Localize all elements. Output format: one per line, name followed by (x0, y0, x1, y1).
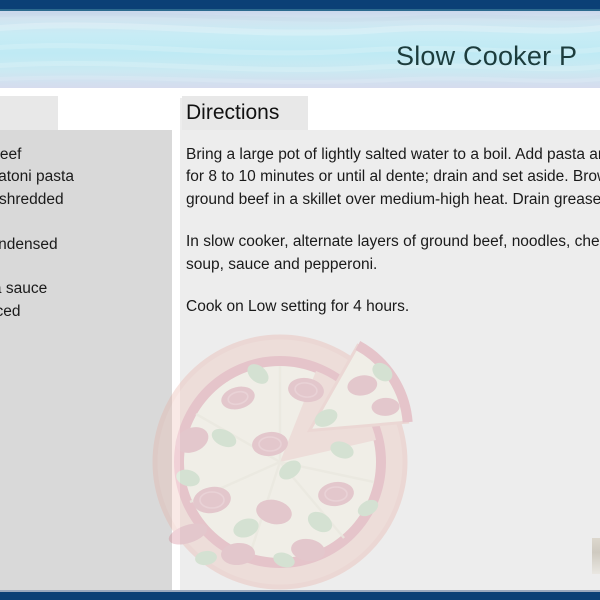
top-navy-bar (0, 0, 600, 9)
ingredients-list: ds ground beef package rigatoni pasta e)… (0, 144, 180, 346)
right-edge-artifact (592, 538, 600, 574)
ingredients-tab-backdrop (54, 96, 172, 130)
list-item: omato soup (0, 256, 180, 278)
list-item: cheese (0, 211, 180, 233)
directions-tab-backdrop (300, 96, 600, 130)
page-title: Slow Cooker P (396, 40, 577, 72)
list-item: package rigatoni pasta (0, 166, 180, 188)
directions-heading: Directions (182, 96, 308, 130)
directions-paragraph: In slow cooker, alternate layers of grou… (186, 231, 600, 276)
directions-paragraph: Cook on Low setting for 4 hours. (186, 296, 600, 318)
directions-body: Bring a large pot of lightly salted wate… (186, 144, 600, 318)
list-item: e) jars pizza sauce (0, 278, 180, 300)
ingredients-heading: ents (0, 96, 58, 130)
list-item: e) package shredded (0, 189, 180, 211)
list-item: ds ground beef (0, 144, 180, 166)
directions-paragraph: Bring a large pot of lightly salted wate… (186, 144, 600, 211)
recipe-slide: Slow Cooker P (0, 0, 600, 600)
list-item: package sliced (0, 301, 180, 323)
list-item: nce) can condensed (0, 234, 180, 256)
bottom-navy-bar (0, 592, 600, 600)
list-item: sausage (0, 323, 180, 345)
header-banner: Slow Cooker P (0, 11, 600, 88)
